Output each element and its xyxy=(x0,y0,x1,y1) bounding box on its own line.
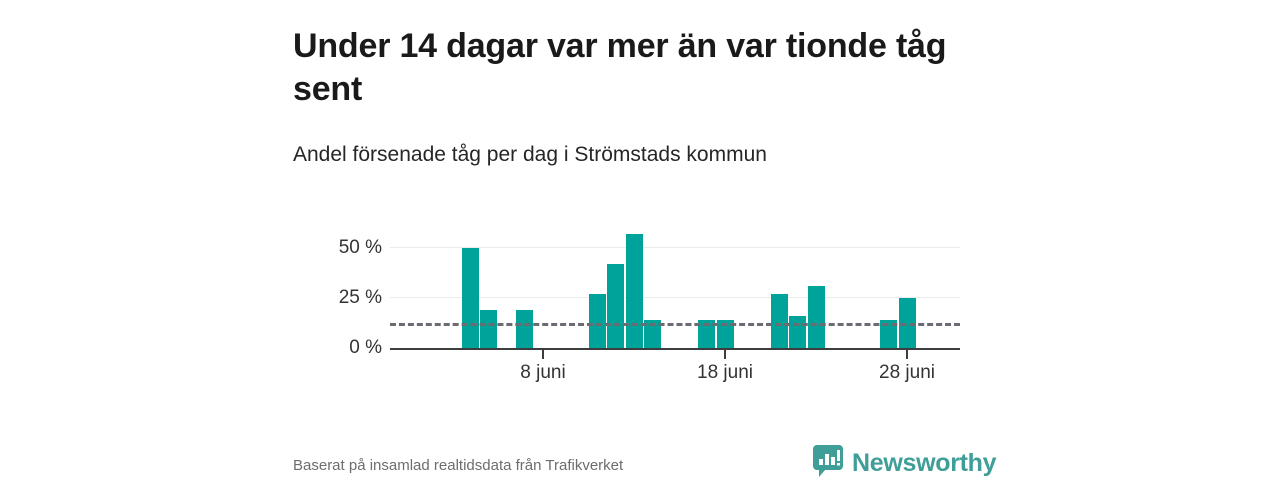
bar[interactable] xyxy=(717,320,734,348)
bar[interactable] xyxy=(771,294,788,348)
newsworthy-logo[interactable]: Newsworthy xyxy=(813,445,996,482)
x-axis-line xyxy=(390,348,960,350)
bar[interactable] xyxy=(789,316,806,348)
bar[interactable] xyxy=(808,286,825,348)
bar[interactable] xyxy=(698,320,715,348)
source-note: Baserat på insamlad realtidsdata från Tr… xyxy=(293,457,623,474)
page-title: Under 14 dagar var mer än var tionde tåg… xyxy=(293,25,993,112)
logo-text: Newsworthy xyxy=(852,449,996,478)
gridline xyxy=(390,297,960,298)
chart-subtitle: Andel försenade tåg per dag i Strömstads… xyxy=(293,142,993,168)
y-axis-tick-label: 50 % xyxy=(312,237,382,259)
x-axis-tick-mark xyxy=(724,350,726,359)
bar[interactable] xyxy=(462,248,479,348)
chart-page: Under 14 dagar var mer än var tionde tåg… xyxy=(0,0,1280,480)
bar[interactable] xyxy=(644,320,661,348)
x-axis-tick-mark xyxy=(906,350,908,359)
bar[interactable] xyxy=(607,264,624,348)
y-axis-tick-label: 0 % xyxy=(312,337,382,359)
bar[interactable] xyxy=(589,294,606,348)
bar-chart-speech-bubble-icon xyxy=(813,445,843,482)
reference-line xyxy=(390,323,960,326)
x-axis-tick-label: 8 juni xyxy=(520,362,565,384)
bar[interactable] xyxy=(626,234,643,348)
x-axis-tick-label: 28 juni xyxy=(879,362,935,384)
bar[interactable] xyxy=(480,310,497,348)
bar[interactable] xyxy=(516,310,533,348)
bar[interactable] xyxy=(880,320,897,348)
plot-area xyxy=(390,228,960,348)
y-axis-tick-label: 25 % xyxy=(312,287,382,309)
bar[interactable] xyxy=(899,298,916,348)
gridline xyxy=(390,247,960,248)
x-axis-tick-mark xyxy=(542,350,544,359)
x-axis-tick-label: 18 juni xyxy=(697,362,753,384)
y-axis: 0 %25 %50 % xyxy=(302,228,382,348)
